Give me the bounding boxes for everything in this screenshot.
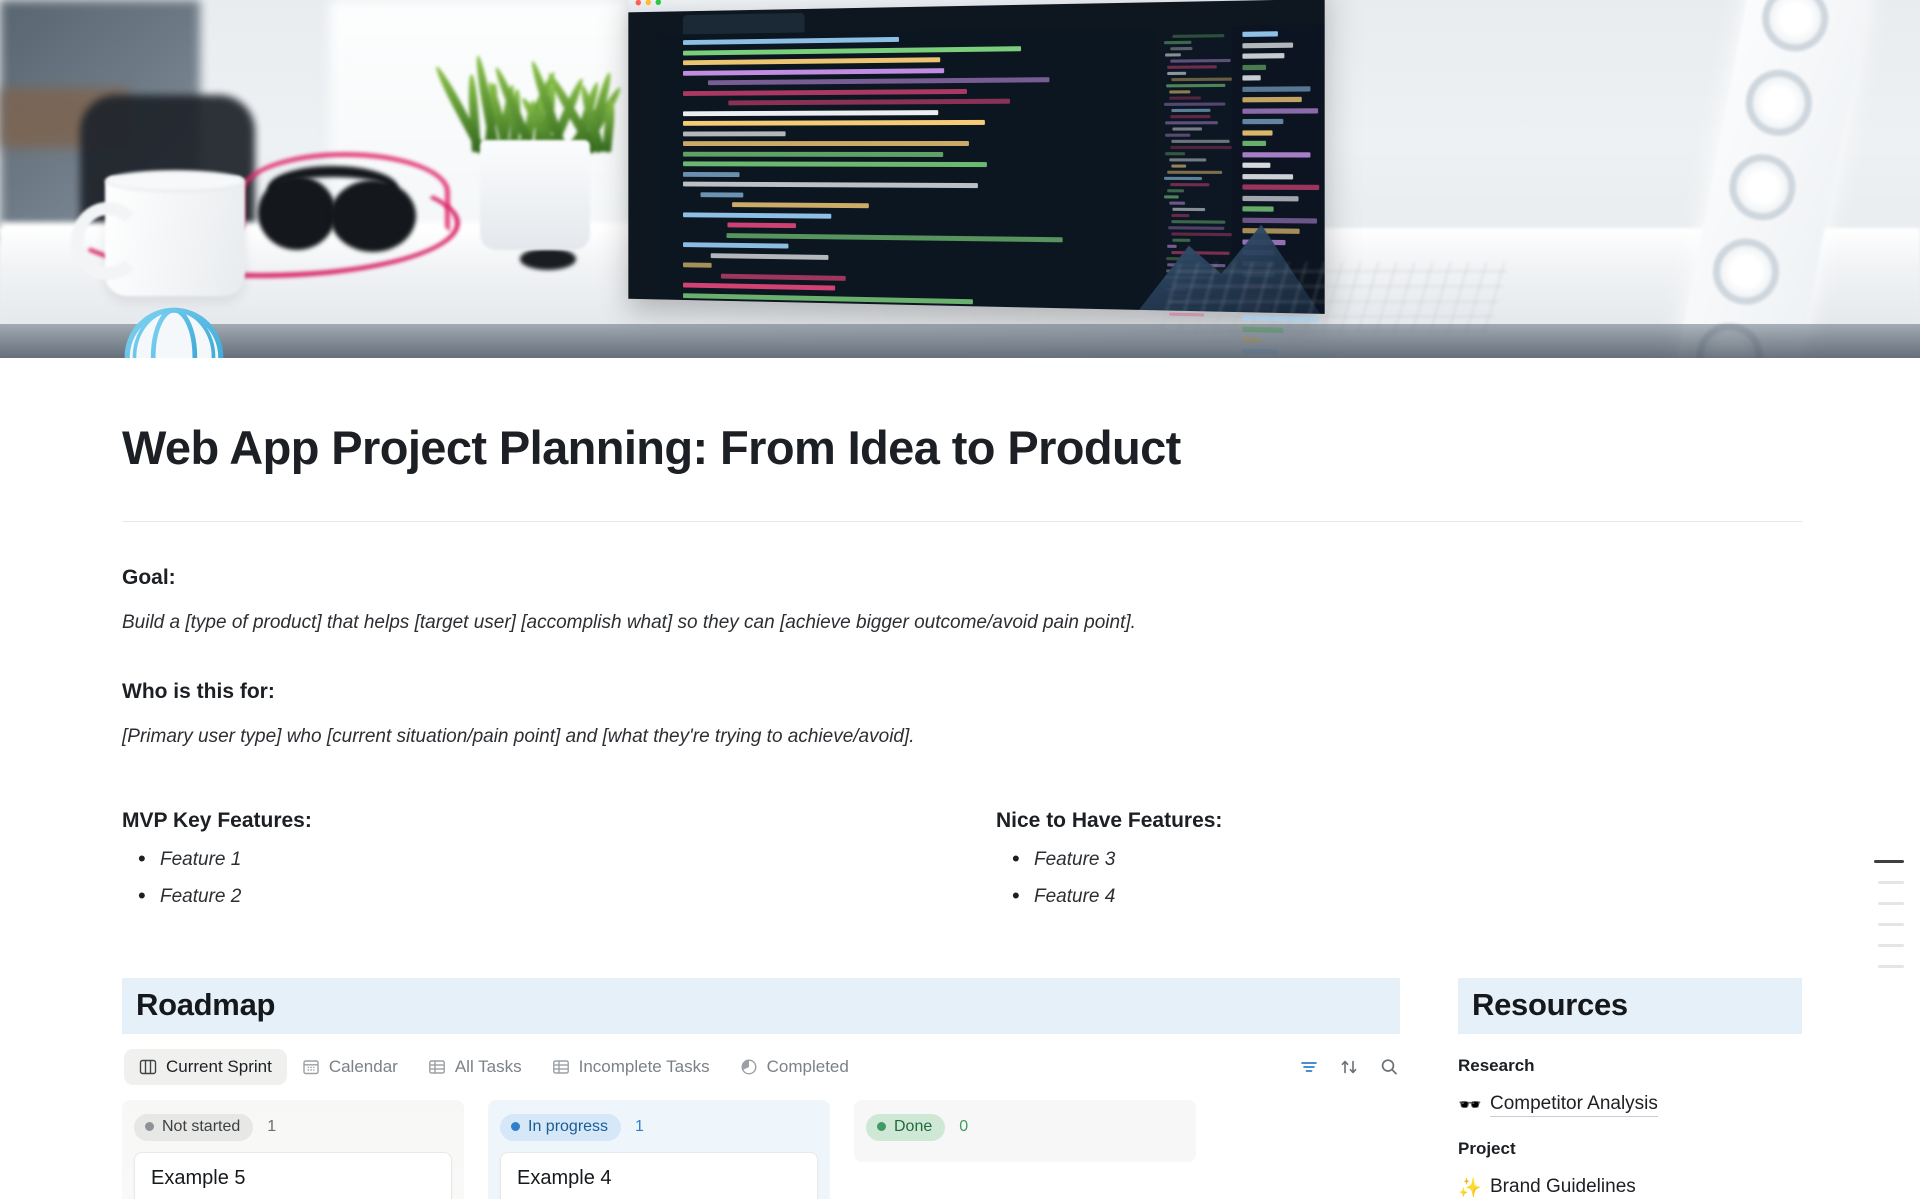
toc-line[interactable] (1878, 944, 1904, 947)
nice-to-have-heading: Nice to Have Features: (996, 809, 1696, 833)
status-label: Done (894, 1118, 932, 1136)
resource-label: Competitor Analysis (1490, 1093, 1658, 1117)
roadmap-tabbar: Current Sprint Calendar (122, 1046, 1400, 1088)
nice-to-have-list: Feature 3 Feature 4 (996, 849, 1696, 908)
tab-label: Incomplete Tasks (579, 1057, 710, 1077)
status-dot (511, 1122, 520, 1131)
goal-text: Build a [type of product] that helps [ta… (122, 610, 1802, 636)
toc-line-active[interactable] (1874, 860, 1904, 863)
sunglasses-icon: 🕶️ (1458, 1096, 1480, 1115)
plant (462, 42, 612, 152)
nice-to-have-column: Nice to Have Features: Feature 3 Feature… (996, 809, 1696, 908)
tab-label: Completed (767, 1057, 849, 1077)
list-item: Feature 2 (122, 886, 996, 908)
filter-icon[interactable] (1298, 1056, 1320, 1078)
globe-icon (122, 305, 226, 358)
roadmap-title: Roadmap (136, 987, 1386, 1023)
sort-icon[interactable] (1338, 1056, 1360, 1078)
search-icon[interactable] (1378, 1056, 1400, 1078)
resource-label: Brand Guidelines (1490, 1176, 1636, 1199)
headphones (258, 176, 336, 250)
resource-link-brand-guidelines[interactable]: ✨ Brand Guidelines (1458, 1176, 1802, 1199)
table-icon (428, 1058, 446, 1076)
kanban-card[interactable]: Example 5 Low Feature (134, 1152, 452, 1199)
roadmap-banner: Roadmap (122, 978, 1400, 1034)
toc-line[interactable] (1878, 923, 1904, 926)
status-dot (877, 1122, 886, 1131)
status-badge[interactable]: Not started (134, 1114, 253, 1141)
toc-line[interactable] (1878, 902, 1904, 905)
column-count: 1 (635, 1118, 644, 1136)
coffee-mug (105, 176, 245, 296)
cover-image (0, 0, 1920, 358)
resources-section: Resources Research 🕶️ Competitor Analysi… (1458, 978, 1802, 1199)
resources-banner: Resources (1458, 978, 1802, 1034)
kanban-card[interactable]: Example 4 Critical Bug Fix (500, 1152, 818, 1199)
resource-link-competitor-analysis[interactable]: 🕶️ Competitor Analysis (1458, 1093, 1802, 1117)
plant-pot (480, 140, 590, 250)
status-label: Not started (162, 1118, 240, 1136)
kanban-column-not-started: Not started 1 Example 5 Low Feature (122, 1100, 464, 1199)
tab-label: All Tasks (455, 1057, 522, 1077)
table-of-contents-rail[interactable] (1874, 860, 1904, 968)
status-dot (145, 1122, 154, 1131)
sparkles-icon: ✨ (1458, 1179, 1480, 1198)
resources-group-project: Project (1458, 1139, 1802, 1159)
list-item: Feature 3 (996, 849, 1696, 871)
column-count: 1 (267, 1118, 276, 1136)
title-divider (122, 521, 1802, 522)
kanban-board: Not started 1 Example 5 Low Feature (122, 1100, 1400, 1199)
mvp-features-list: Feature 1 Feature 2 (122, 849, 996, 908)
cover-scene (0, 0, 1920, 358)
goal-heading: Goal: (122, 566, 1802, 590)
card-title: Example 4 (517, 1167, 801, 1190)
feature-columns: MVP Key Features: Feature 1 Feature 2 Ni… (122, 809, 1802, 908)
calendar-icon (302, 1058, 320, 1076)
page-title: Web App Project Planning: From Idea to P… (122, 420, 1802, 475)
kanban-column-done: Done 0 (854, 1100, 1196, 1162)
resources-group-research: Research (1458, 1056, 1802, 1076)
board-icon (139, 1058, 157, 1076)
tab-completed[interactable]: Completed (725, 1049, 864, 1085)
table-icon (552, 1058, 570, 1076)
keyboard (1160, 262, 1510, 332)
toc-line[interactable] (1878, 965, 1904, 968)
resources-title: Resources (1472, 987, 1788, 1023)
tab-all-tasks[interactable]: All Tasks (413, 1049, 537, 1085)
tab-label: Calendar (329, 1057, 398, 1077)
status-badge[interactable]: In progress (500, 1114, 621, 1141)
toc-line[interactable] (1878, 881, 1904, 884)
roadmap-section: Roadmap Current Sprint (122, 978, 1400, 1199)
tab-incomplete-tasks[interactable]: Incomplete Tasks (537, 1049, 725, 1085)
tab-calendar[interactable]: Calendar (287, 1049, 413, 1085)
status-label: In progress (528, 1118, 608, 1136)
pie-chart-icon (740, 1058, 758, 1076)
mvp-features-heading: MVP Key Features: (122, 809, 996, 833)
mvp-features-column: MVP Key Features: Feature 1 Feature 2 (122, 809, 996, 908)
card-title: Example 5 (151, 1167, 435, 1190)
kanban-column-in-progress: In progress 1 Example 4 Critical Bug Fix (488, 1100, 830, 1199)
status-badge[interactable]: Done (866, 1114, 945, 1141)
audience-text: [Primary user type] who [current situati… (122, 724, 1802, 750)
tab-current-sprint[interactable]: Current Sprint (124, 1049, 287, 1085)
list-item: Feature 1 (122, 849, 996, 871)
list-item: Feature 4 (996, 886, 1696, 908)
column-count: 0 (959, 1118, 968, 1136)
audience-heading: Who is this for: (122, 680, 1802, 704)
tab-label: Current Sprint (166, 1057, 272, 1077)
